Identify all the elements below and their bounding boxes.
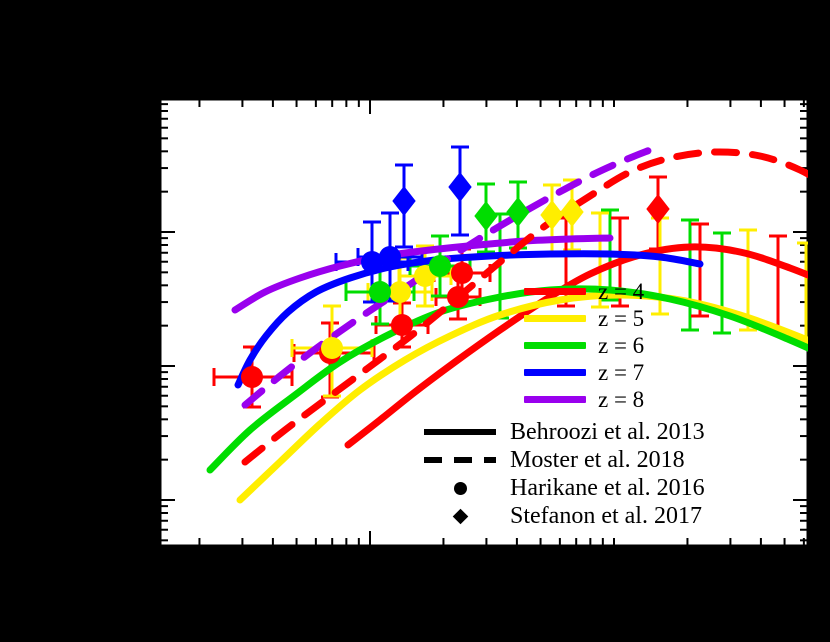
legend-label: z = 8 bbox=[598, 388, 644, 411]
data-marker-circle bbox=[447, 286, 469, 308]
legend-source-label: Stefanon et al. 2017 bbox=[510, 504, 702, 528]
legend-label: z = 4 bbox=[598, 280, 644, 303]
legend-z7: z = 7 bbox=[524, 359, 674, 386]
redshift-legend: z = 4z = 5z = 6z = 7z = 8 bbox=[524, 278, 674, 413]
legend-z8: z = 8 bbox=[524, 386, 674, 413]
data-marker-diamond bbox=[448, 172, 471, 202]
data-marker-circle bbox=[321, 337, 343, 359]
data-marker-circle bbox=[389, 281, 411, 303]
legend-source-label: Behroozi et al. 2013 bbox=[510, 420, 705, 444]
legend-source-2: Moster et al. 2018 bbox=[420, 446, 690, 474]
legend-z5: z = 5 bbox=[524, 305, 674, 332]
source-legend: Behroozi et al. 2013Moster et al. 2018Ha… bbox=[420, 418, 690, 530]
data-marker-circle bbox=[379, 246, 401, 268]
data-marker-circle bbox=[451, 262, 473, 284]
data-marker-circle bbox=[241, 366, 263, 388]
data-marker-circle bbox=[391, 314, 413, 336]
data-marker-circle bbox=[429, 255, 451, 277]
figure-canvas: z = 4z = 5z = 6z = 7z = 8 Behroozi et al… bbox=[0, 0, 830, 642]
filled-circle-icon bbox=[420, 482, 500, 495]
filled-diamond-icon bbox=[420, 511, 500, 522]
legend-label: z = 7 bbox=[598, 361, 644, 384]
legend-source-label: Moster et al. 2018 bbox=[510, 448, 685, 472]
legend-source-4: Stefanon et al. 2017 bbox=[420, 502, 690, 530]
solid-line-icon bbox=[420, 429, 500, 435]
legend-label: z = 5 bbox=[598, 307, 644, 330]
data-marker-circle bbox=[369, 281, 391, 303]
legend-z4: z = 4 bbox=[524, 278, 674, 305]
legend-source-1: Behroozi et al. 2013 bbox=[420, 418, 690, 446]
legend-label: z = 6 bbox=[598, 334, 644, 357]
legend-z6: z = 6 bbox=[524, 332, 674, 359]
legend-source-3: Harikane et al. 2016 bbox=[420, 474, 690, 502]
legend-source-label: Harikane et al. 2016 bbox=[510, 476, 705, 500]
dashed-line-icon bbox=[420, 457, 500, 463]
